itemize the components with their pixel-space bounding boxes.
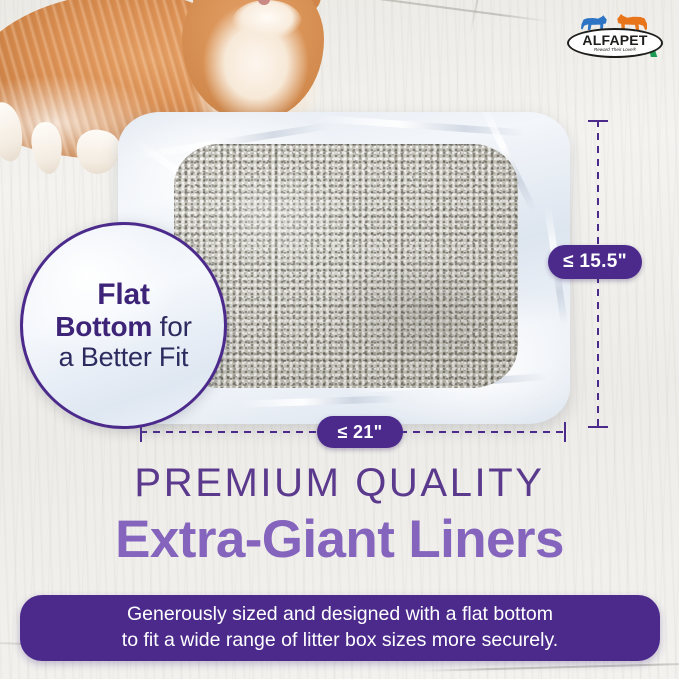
badge-line-1: Flat: [97, 279, 150, 311]
badge-line-2: Bottom for: [55, 311, 191, 342]
product-marketing-image: ≤ 15.5" ≤ 21" Flat Bottom for a Better F…: [0, 0, 679, 679]
banner-line-2: to fit a wide range of litter box sizes …: [122, 628, 558, 654]
badge-line-2-rest: for: [152, 311, 192, 342]
cat-litter-fill: [174, 144, 518, 388]
headline-eyebrow: PREMIUM QUALITY: [0, 461, 679, 506]
alfapet-logo: ALFAPET Reward Their Love®: [565, 14, 665, 60]
logo-wordmark: ALFAPET: [582, 33, 647, 47]
banner-line-1: Generously sized and designed with a fla…: [127, 602, 553, 628]
width-dimension-label: ≤ 21": [317, 416, 403, 448]
dimension-end-cap: [588, 426, 608, 428]
dimension-end-cap: [564, 422, 566, 442]
logo-oval-frame: ALFAPET Reward Their Love®: [567, 28, 663, 58]
badge-line-2-bold: Bottom: [55, 311, 152, 342]
litter-shading: [174, 144, 518, 388]
logo-tagline: Reward Their Love®: [594, 48, 636, 53]
height-dimension-label: ≤ 15.5": [548, 245, 642, 279]
liner-crease: [238, 395, 398, 408]
description-banner: Generously sized and designed with a fla…: [20, 595, 660, 661]
dimension-end-cap: [588, 120, 608, 122]
cat-muzzle: [232, 0, 302, 44]
headline-main: Extra-Giant Liners: [0, 509, 679, 570]
flat-bottom-badge: Flat Bottom for a Better Fit: [20, 222, 227, 429]
badge-line-3: a Better Fit: [59, 342, 189, 372]
